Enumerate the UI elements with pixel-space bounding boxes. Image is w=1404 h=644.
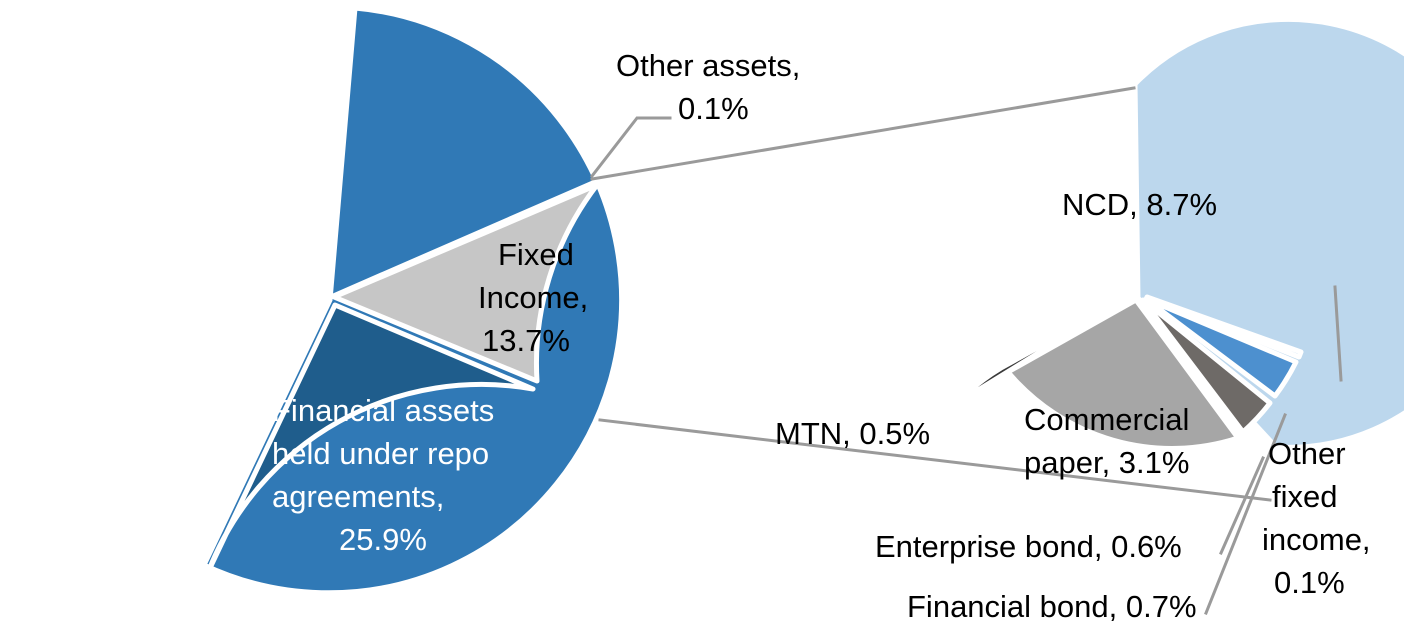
label-repo-line3: agreements, (272, 479, 444, 514)
label-other-fixed-line4: 0.1% (1274, 565, 1345, 600)
label-fixed-income-line2: Income, (478, 280, 588, 315)
label-other-fixed-line1: Other (1268, 436, 1346, 471)
label-fixed-income-line1: Fixed (498, 237, 574, 272)
leader-expand-top (592, 88, 1134, 179)
pie-chart-figure: Bank deposits, 60.3% Financial assets he… (0, 0, 1404, 644)
label-other-fixed-line3: income, (1262, 522, 1371, 557)
label-enterprise-bond: Enterprise bond, 0.6% (875, 529, 1182, 564)
label-other-fixed-line2: fixed (1272, 479, 1337, 514)
label-repo-line1: Financial assets (272, 393, 494, 428)
label-commercial-paper-line1: Commercial (1024, 402, 1189, 437)
label-other-assets-line2: 0.1% (678, 91, 749, 126)
chart-canvas: Bank deposits, 60.3% Financial assets he… (0, 0, 1404, 644)
label-mtn: MTN, 0.5% (775, 416, 930, 451)
label-commercial-paper-line2: paper, 3.1% (1024, 445, 1189, 480)
label-bank-deposits-line2: 60.3% (138, 185, 226, 220)
label-financial-bond: Financial bond, 0.7% (907, 589, 1197, 624)
fixed-income-pie-group (957, 19, 1404, 448)
label-fixed-income-line3: 13.7% (482, 323, 570, 358)
leader-enterprise-bond (1221, 458, 1263, 553)
label-repo-line2: held under repo (272, 436, 489, 471)
label-ncd: NCD, 8.7% (1062, 187, 1217, 222)
label-bank-deposits-line1: Bank deposits, (138, 142, 341, 177)
label-repo-line4: 25.9% (339, 522, 427, 557)
label-other-assets-line1: Other assets, (616, 48, 800, 83)
